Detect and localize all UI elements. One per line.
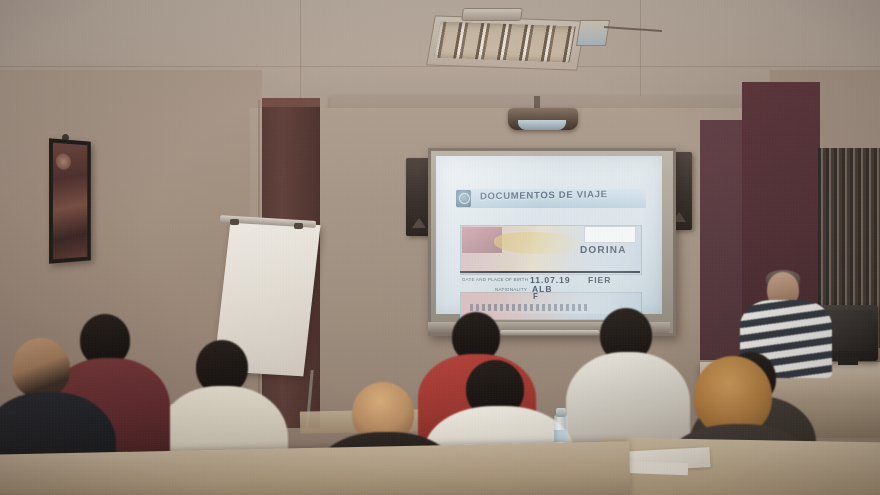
document-value-place: FIER: [588, 275, 611, 285]
marker-tray: [500, 330, 600, 335]
document-divider: [460, 271, 640, 273]
dark-column-top: [262, 98, 320, 107]
table-mid-left: [100, 404, 250, 422]
document-blank-field: [584, 226, 636, 243]
water-bottle-cap: [556, 408, 566, 417]
orange-bag: [789, 337, 825, 370]
ceiling-light-strip: [461, 8, 523, 21]
document-holder-name: DORINA: [580, 245, 627, 256]
table-mid-center: [300, 408, 480, 433]
flipchart-clip-left: [230, 219, 239, 225]
classroom-photo: DOCUMENTOS DE VIAJE DORINA DATE AND PLAC…: [0, 0, 880, 495]
framed-wall-picture: [49, 138, 91, 264]
picture-artwork: [53, 143, 87, 260]
document-hologram: [494, 232, 580, 254]
document-label-birth: DATE AND PLACE OF BIRTH: [462, 277, 528, 282]
document-mrz-strip: [470, 304, 590, 311]
water-bottle-label: [554, 430, 568, 442]
monitor-stand: [838, 357, 858, 365]
smoke-detector-icon: [576, 20, 610, 46]
institutional-seal-icon: [456, 190, 471, 207]
instructor-desk-front: [700, 404, 880, 438]
monitor-screen: [823, 310, 873, 351]
projector-lens: [518, 120, 566, 130]
flipchart-paper: [213, 220, 320, 377]
flipchart-clip-right: [294, 223, 303, 229]
ceiling-light-grille: [434, 22, 576, 63]
document-value-sex: F: [533, 292, 539, 301]
